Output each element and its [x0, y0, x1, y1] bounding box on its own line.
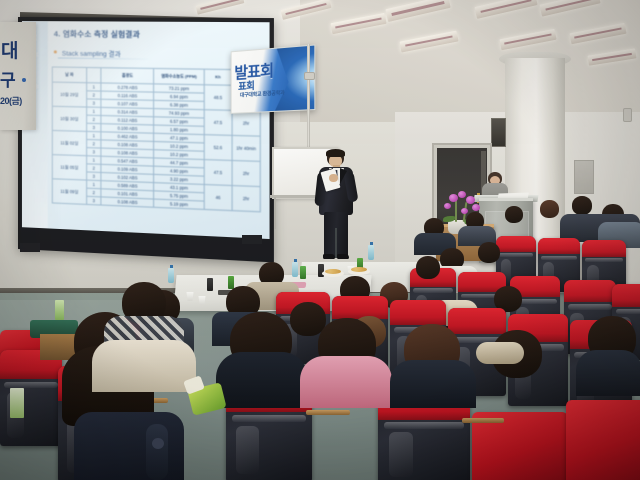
orchid-bloom	[449, 194, 458, 202]
presenter-hand	[329, 174, 338, 182]
orchid-bloom	[444, 203, 451, 209]
backpack-buckle	[152, 438, 164, 449]
orchid-bloom	[472, 204, 480, 211]
water-bottle	[168, 268, 174, 283]
orchid-bloom	[458, 191, 466, 198]
fur-trim	[476, 342, 524, 364]
whiteboard-leg	[274, 197, 276, 229]
presenter	[313, 150, 361, 260]
audience-head	[572, 196, 592, 215]
orchid-bloom	[466, 196, 475, 204]
audience-head	[478, 242, 500, 263]
snack-food	[351, 267, 367, 272]
audience-shoulders	[390, 360, 476, 408]
beverage-can	[10, 388, 24, 418]
beverage-can	[207, 278, 213, 291]
left-banner-line2: 구	[0, 66, 14, 91]
audience-head	[505, 206, 523, 223]
banner-pole	[307, 44, 310, 162]
wall-fixture	[623, 108, 632, 122]
banner-clip	[304, 72, 315, 80]
audience-cream-coat	[92, 340, 196, 392]
wall-vent-panel	[574, 160, 594, 194]
orchid-bloom	[461, 208, 468, 214]
snack-food	[325, 269, 341, 274]
audience-head	[416, 256, 440, 279]
presenter-hair	[326, 149, 345, 157]
banner-organization: 대구대학교 환경공학과	[240, 89, 285, 98]
water-bottle	[368, 245, 374, 260]
audience-shoulders	[216, 352, 308, 408]
audience-shoulders	[576, 350, 640, 396]
beverage-can	[228, 276, 234, 289]
left-standing-banner: 대 구 20(금)	[0, 22, 36, 130]
left-banner-line1: 대	[1, 36, 16, 63]
presenter-shoe	[323, 254, 335, 259]
banner-bullet-dot	[22, 78, 26, 82]
lecture-hall-photo: ❄ ❄ ❄ ❄ ❄ 4. 염화수소 측정 실험결과 Stack sampling…	[0, 0, 640, 480]
audience-head	[540, 200, 559, 218]
water-bottle	[292, 262, 298, 277]
screen-leg	[20, 243, 40, 252]
screen-leg	[242, 235, 262, 244]
wall-speaker-icon	[491, 118, 506, 147]
seat-armrest	[462, 418, 504, 423]
beverage-can	[55, 300, 64, 320]
presenter-shoe	[337, 254, 349, 259]
audience-pink-jacket	[300, 356, 392, 408]
left-banner-line3: 20(금)	[0, 94, 22, 107]
auditorium-seat[interactable]	[566, 400, 640, 480]
beverage-can	[300, 266, 306, 279]
backpack-strap	[146, 424, 168, 480]
event-banner: 발표회 표회 대구대학교 환경공학과	[231, 44, 316, 113]
seat-armrest	[306, 410, 350, 415]
